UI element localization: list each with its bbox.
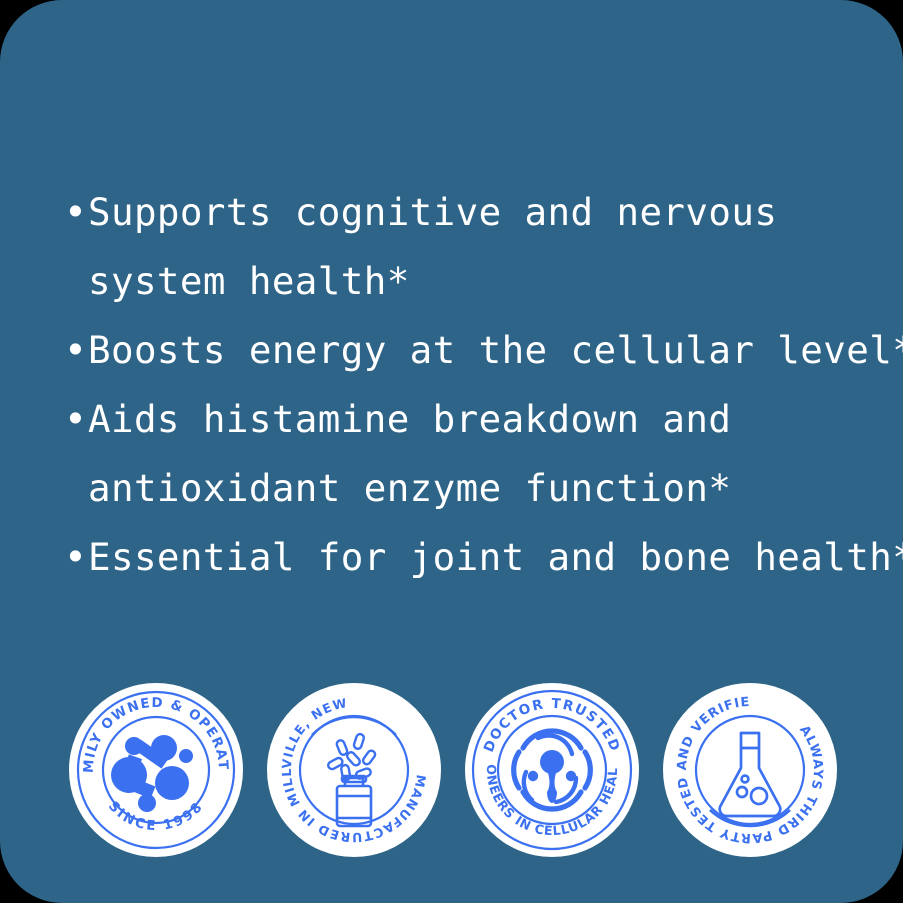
benefit-text: Supports cognitive and nervous: [88, 178, 777, 247]
product-benefits-card: • Supports cognitive and nervous system …: [0, 0, 903, 903]
badge-family-owned: FAMILY OWNED & OPERATED SINCE 1998: [68, 682, 244, 858]
bullet-icon: •: [62, 523, 88, 592]
trust-badge-row: FAMILY OWNED & OPERATED SINCE 1998: [68, 682, 838, 862]
list-item: • Supports cognitive and nervous: [62, 178, 862, 247]
benefits-list: • Supports cognitive and nervous system …: [62, 178, 862, 592]
benefit-text: Aids histamine breakdown and: [88, 385, 731, 454]
benefit-text: Boosts energy at the cellular level*: [88, 316, 903, 385]
benefit-text: system health*: [88, 247, 410, 316]
bullet-icon: •: [62, 316, 88, 385]
badge-doctor-trusted: DOCTOR TRUSTED PIONEERS IN CELLULAR HEAL…: [464, 682, 640, 858]
list-item: • Aids histamine breakdown and: [62, 385, 862, 454]
bullet-icon: •: [62, 178, 88, 247]
list-item-continuation: antioxidant enzyme function*: [62, 454, 862, 523]
benefit-text: antioxidant enzyme function*: [88, 454, 731, 523]
list-item-continuation: system health*: [62, 247, 862, 316]
badge-third-party-tested: ALWAYS THIRD PARTY TESTED AND VERIFIED: [662, 682, 838, 858]
list-item: • Boosts energy at the cellular level*: [62, 316, 862, 385]
badge-manufactured-nj: MANUFACTURED IN MILLVILLE, NEW JERSEY: [266, 682, 442, 858]
bullet-icon: •: [62, 385, 88, 454]
list-item: • Essential for joint and bone health*: [62, 523, 862, 592]
benefit-text: Essential for joint and bone health*: [88, 523, 903, 592]
